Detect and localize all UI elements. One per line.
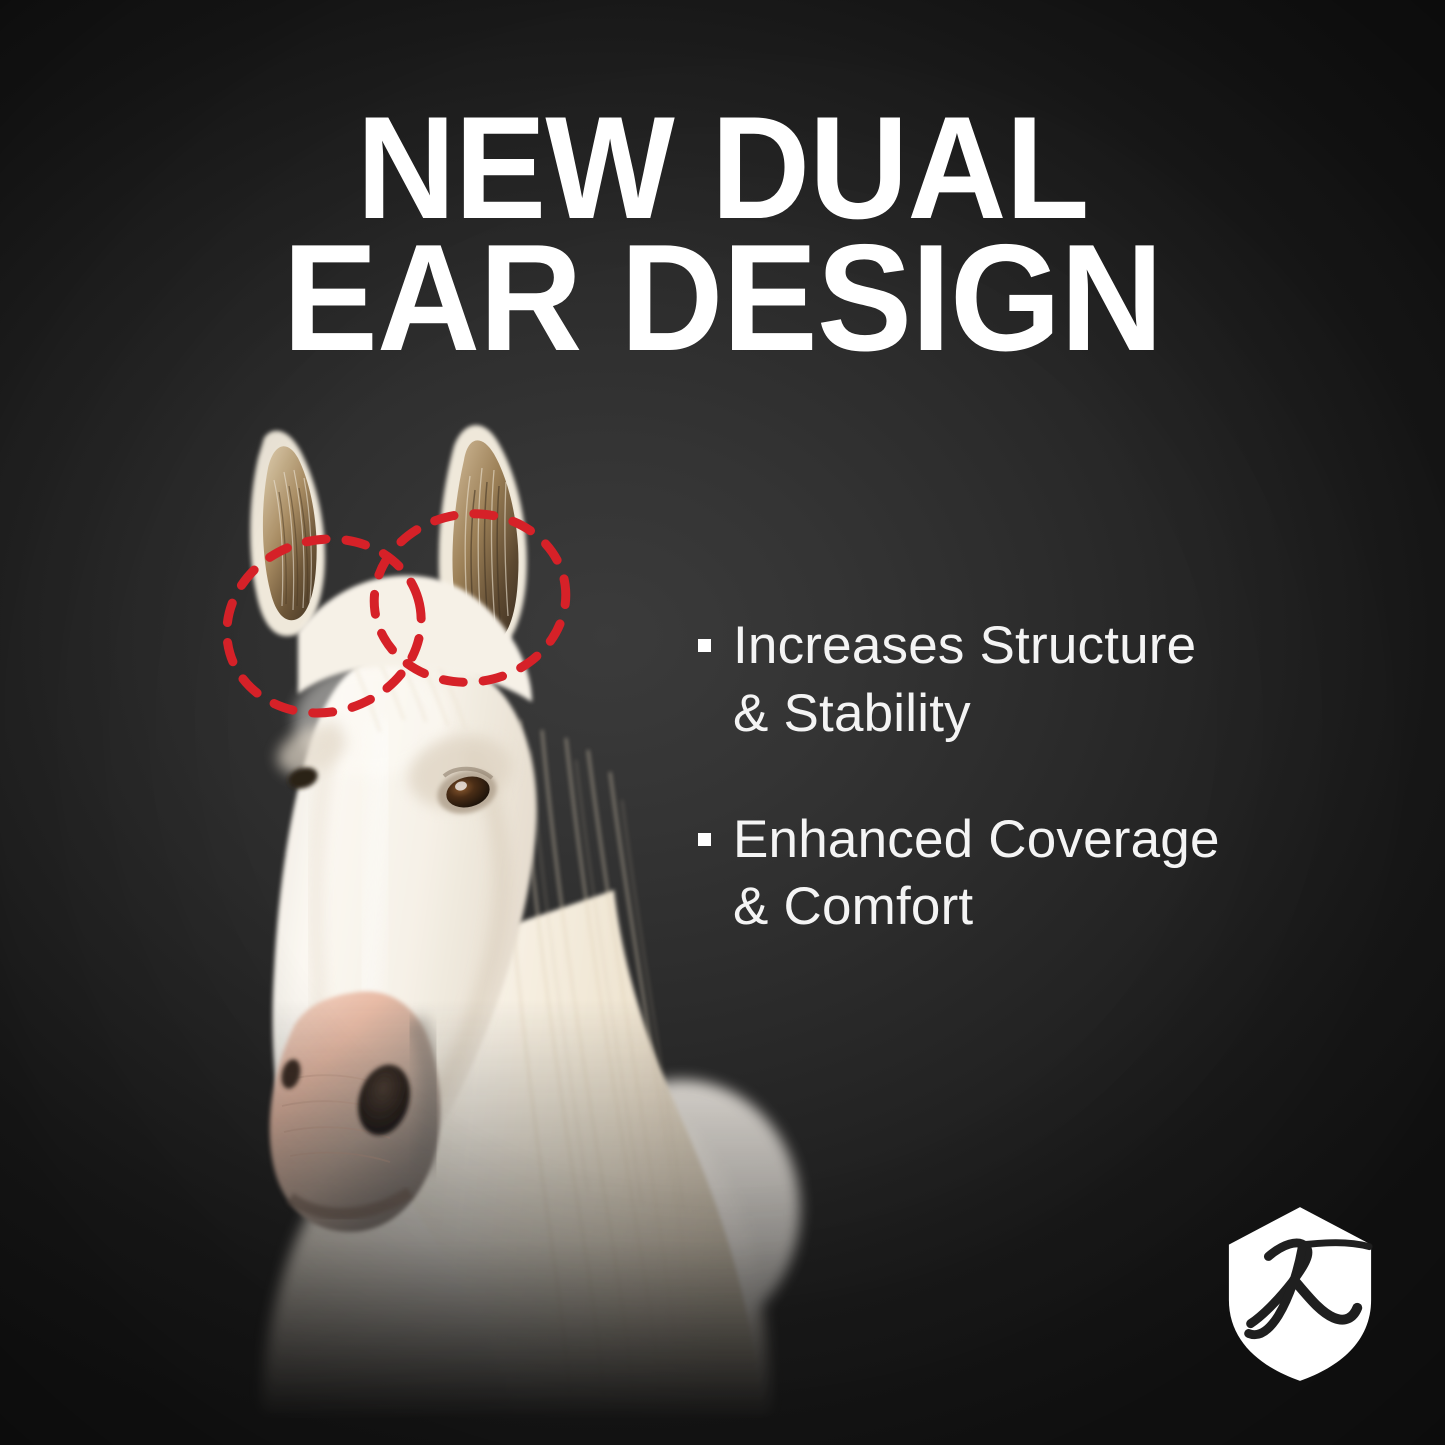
square-bullet-icon (698, 639, 711, 652)
list-item: Enhanced Coverage & Comfort (698, 806, 1398, 942)
feature-list: Increases Structure & Stability Enhanced… (698, 612, 1398, 999)
brand-logo (1221, 1205, 1379, 1383)
page-title: NEW DUAL EAR DESIGN (43, 104, 1401, 366)
shield-logo-icon (1221, 1205, 1379, 1383)
list-item: Increases Structure & Stability (698, 612, 1398, 748)
promo-graphic: NEW DUAL EAR DESIGN Increases Structure … (0, 0, 1445, 1445)
headline-line-2: EAR DESIGN (43, 232, 1401, 366)
square-bullet-icon (698, 833, 711, 846)
feature-text-2: Enhanced Coverage & Comfort (733, 806, 1220, 942)
feature-text-1: Increases Structure & Stability (733, 612, 1196, 748)
